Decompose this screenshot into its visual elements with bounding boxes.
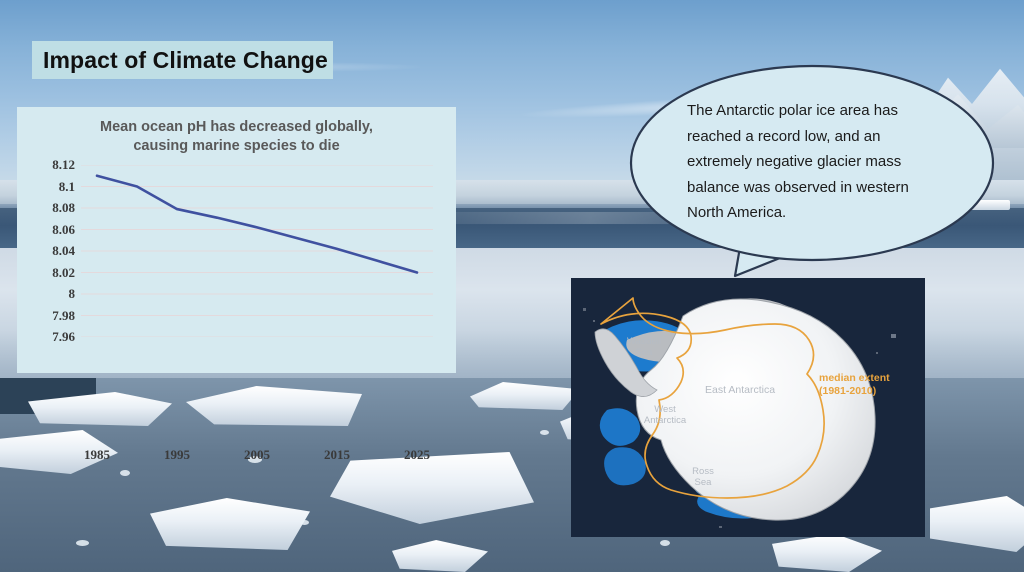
chart-title: Mean ocean pH has decreased globally, ca… bbox=[17, 118, 456, 156]
callout-speech-bubble: The Antarctic polar ice area has reached… bbox=[625, 60, 1000, 300]
ocean-ph-chart-panel: Mean ocean pH has decreased globally, ca… bbox=[17, 107, 456, 373]
chart-y-tick-label: 8.02 bbox=[17, 265, 75, 281]
chart-title-line-2: causing marine species to die bbox=[17, 137, 456, 156]
brash-ice bbox=[540, 430, 549, 435]
chart-x-tick-label: 1995 bbox=[164, 447, 190, 463]
map-label-line-1: Waddell bbox=[613, 336, 675, 347]
map-label-line-1: Ross bbox=[683, 466, 723, 477]
chart-y-axis-labels: 8.128.18.088.068.048.0287.987.96 bbox=[17, 159, 75, 343]
chart-plot-area bbox=[81, 165, 433, 337]
chart-y-tick-label: 8.04 bbox=[17, 243, 75, 259]
slide-canvas: Impact of Climate Change Mean ocean pH h… bbox=[0, 0, 1024, 572]
chart-y-tick-label: 8.06 bbox=[17, 222, 75, 238]
chart-title-line-1: Mean ocean pH has decreased globally, bbox=[17, 118, 456, 137]
map-legend-line-1: median extent bbox=[819, 372, 890, 385]
map-label-line-2: Sea bbox=[613, 347, 675, 358]
map-legend-median-extent: median extent (1981-2010) bbox=[819, 372, 890, 398]
chart-x-tick-label: 2005 bbox=[244, 447, 270, 463]
chart-x-axis-labels: 19851995200520152025 bbox=[81, 447, 433, 467]
brash-ice bbox=[120, 470, 130, 476]
brash-ice bbox=[76, 540, 89, 546]
chart-y-tick-label: 7.96 bbox=[17, 329, 75, 345]
chart-x-tick-label: 2025 bbox=[404, 447, 430, 463]
brash-ice bbox=[300, 520, 309, 525]
antarctic-sea-ice-map: Waddell Sea West Antarctica East Antarct… bbox=[571, 278, 925, 537]
map-label-waddell-sea: Waddell Sea bbox=[613, 336, 675, 358]
chart-y-tick-label: 8.1 bbox=[17, 179, 75, 195]
map-label-east-antarctica: East Antarctica bbox=[705, 384, 775, 396]
chart-x-tick-label: 2015 bbox=[324, 447, 350, 463]
chart-y-tick-label: 8 bbox=[17, 286, 75, 302]
map-label-line-1: East Antarctica bbox=[705, 384, 775, 396]
map-label-line-2: Antarctica bbox=[623, 415, 707, 426]
map-label-line-2: Sea bbox=[683, 477, 723, 488]
chart-x-tick-label: 1985 bbox=[84, 447, 110, 463]
chart-y-tick-label: 7.98 bbox=[17, 308, 75, 324]
map-legend-line-2: (1981-2010) bbox=[819, 385, 890, 398]
map-label-ross-sea: Ross Sea bbox=[683, 466, 723, 488]
map-label-line-1: West bbox=[623, 404, 707, 415]
page-title: Impact of Climate Change bbox=[32, 47, 328, 74]
brash-ice bbox=[660, 540, 670, 546]
chart-line-series-mean-ocean-ph bbox=[97, 176, 417, 273]
slide-title-banner: Impact of Climate Change bbox=[32, 41, 333, 79]
map-label-west-antarctica: West Antarctica bbox=[623, 404, 707, 426]
chart-y-tick-label: 8.12 bbox=[17, 157, 75, 173]
chart-y-tick-label: 8.08 bbox=[17, 200, 75, 216]
chart-gridlines bbox=[81, 165, 433, 337]
callout-text: The Antarctic polar ice area has reached… bbox=[687, 98, 932, 226]
